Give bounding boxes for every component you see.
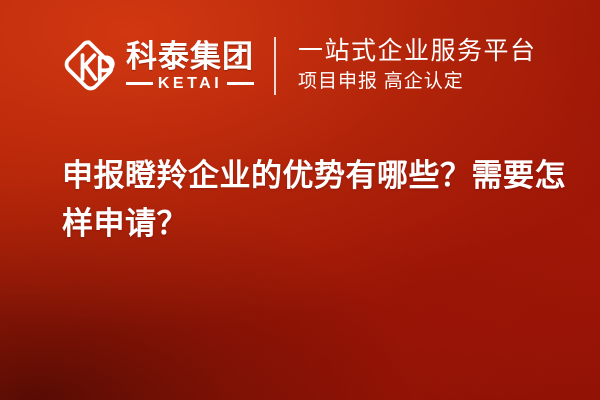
promo-banner: 科泰集团 KETAI 一站式企业服务平台 项目申报 高企认定 申报瞪羚企业的优势… [0,0,600,400]
logo-company-name-en-row: KETAI [126,76,254,92]
logo-wordmark: 科泰集团 KETAI [126,40,254,91]
logo-rule-right-icon [227,82,254,85]
logo-rule-left-icon [126,82,153,85]
banner-header: 科泰集团 KETAI 一站式企业服务平台 项目申报 高企认定 [62,34,537,98]
logo-company-name-cn: 科泰集团 [126,41,254,73]
tagline-main: 一站式企业服务平台 [298,37,537,67]
header-divider [274,37,276,95]
brand-logo[interactable]: 科泰集团 KETAI [62,39,254,93]
page-title: 申报瞪羚企业的优势有哪些？需要怎样申请？ [62,152,574,248]
logo-company-name-en: KETAI [158,76,222,92]
tagline-block: 一站式企业服务平台 项目申报 高企认定 [298,37,537,94]
ketai-diamond-kp-logo-icon [62,39,116,93]
tagline-sub: 项目申报 高企认定 [298,70,537,95]
